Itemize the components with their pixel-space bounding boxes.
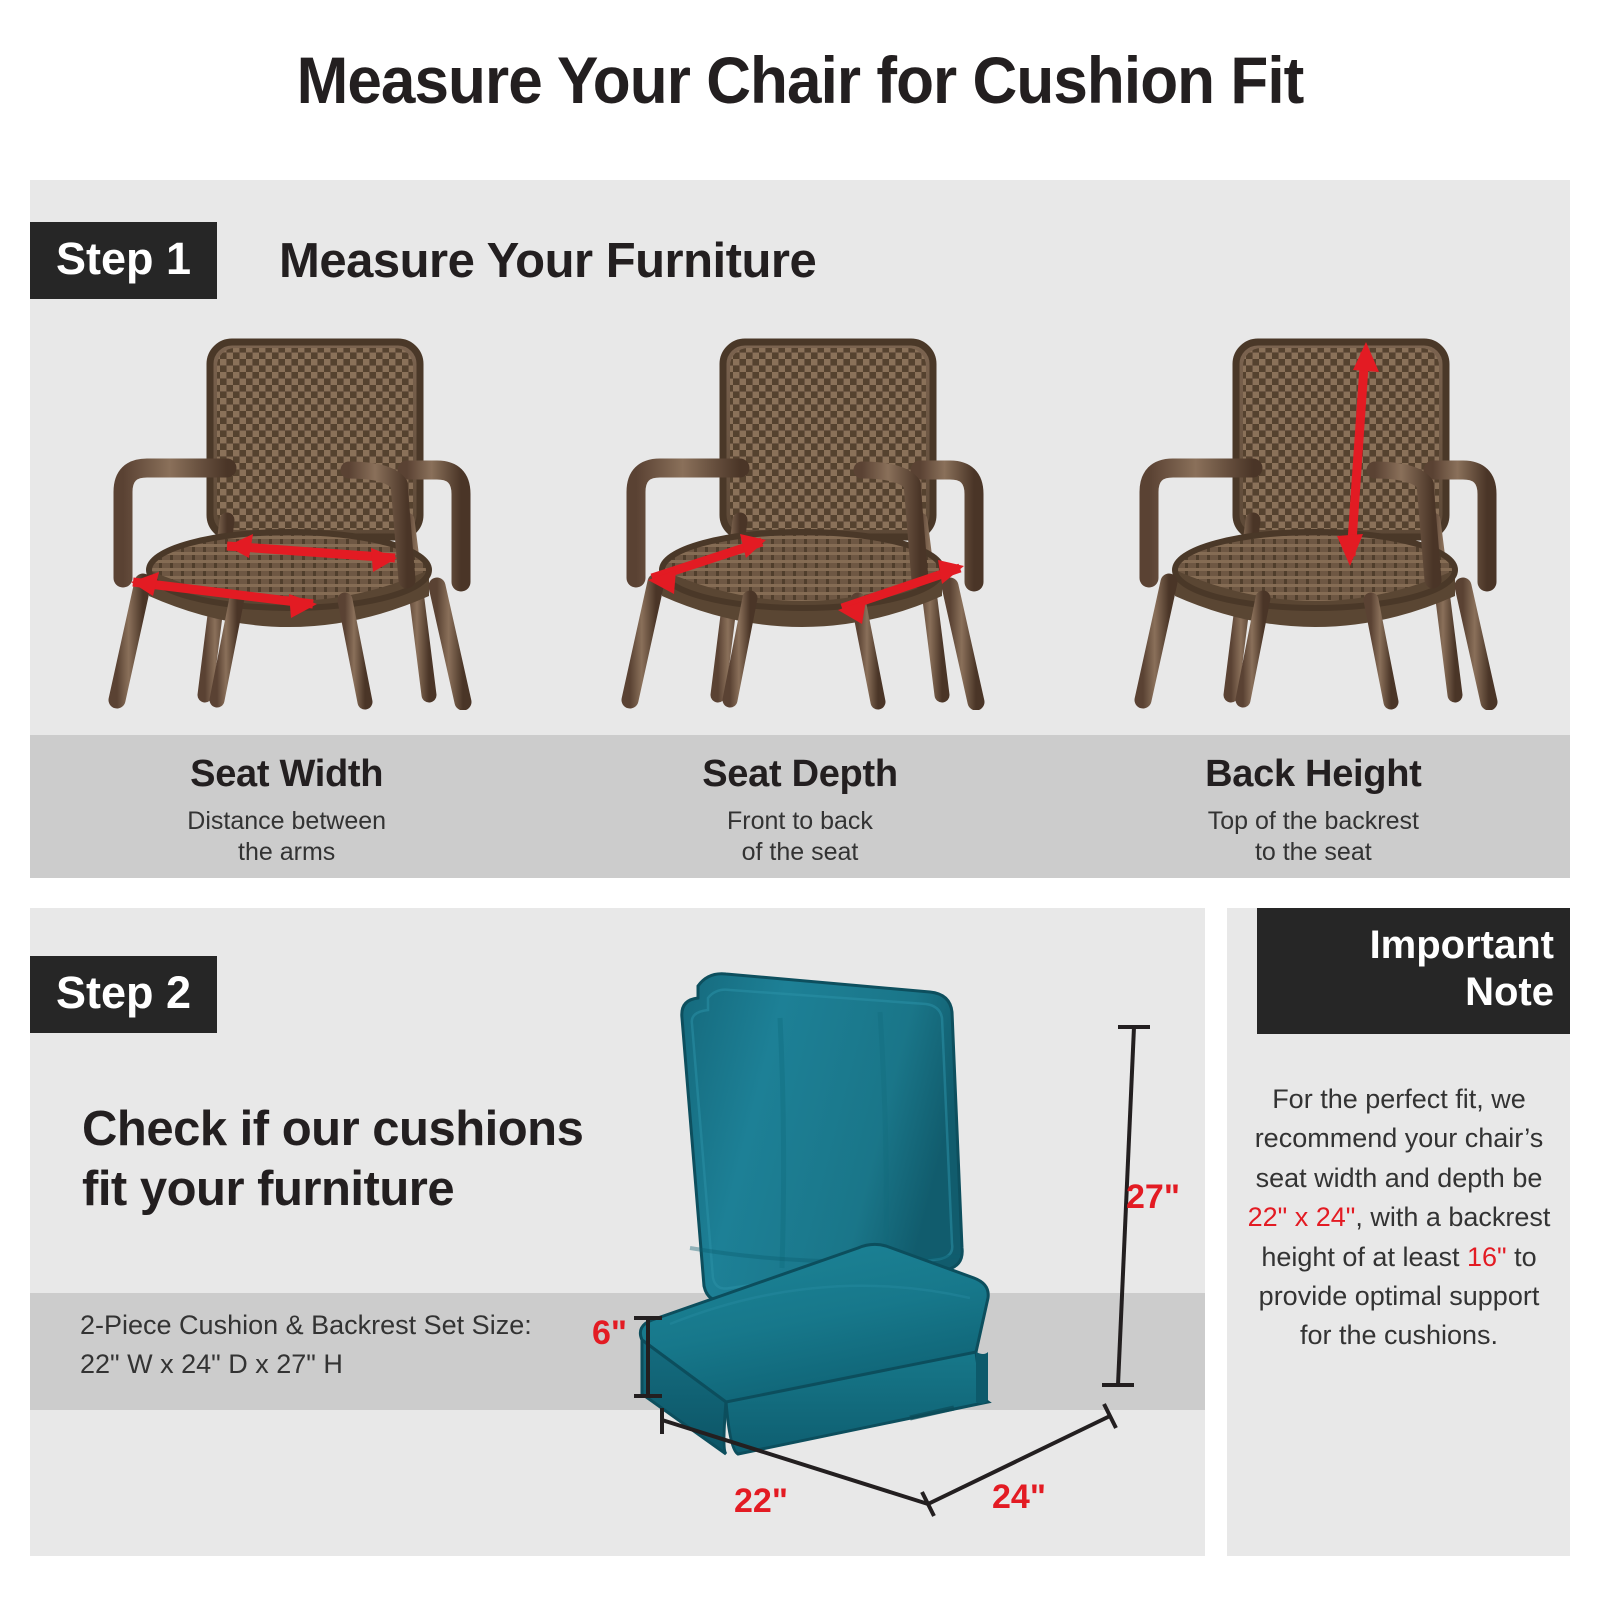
chair-back-height	[1057, 320, 1570, 735]
dimension-label-thickness: 6"	[592, 1314, 627, 1353]
important-note-badge: Important Note	[1257, 908, 1570, 1034]
note-text-part-1: For the perfect fit, we recommend your c…	[1255, 1084, 1544, 1193]
important-note-badge-line-2: Note	[1267, 969, 1554, 1016]
step-2-headline-line-2: fit your furniture	[82, 1160, 583, 1220]
dimension-label-width: 22"	[734, 1482, 788, 1521]
step-2-headline: Check if our cushions fit your furniture	[82, 1100, 583, 1220]
cushion-illustration	[630, 948, 1200, 1548]
dimension-label-depth: 24"	[992, 1478, 1046, 1517]
measurement-description-line-1: Distance between	[30, 806, 543, 837]
chair-seat-width	[30, 320, 543, 735]
important-note-badge-line-1: Important	[1267, 922, 1554, 969]
measurement-description: Front to back of the seat	[543, 806, 1056, 868]
cushion-set-size-line-1: 2-Piece Cushion & Backrest Set Size:	[80, 1306, 532, 1345]
important-note-panel: Important Note For the perfect fit, we r…	[1227, 908, 1570, 1556]
wicker-chair-illustration	[77, 320, 497, 710]
measurement-description-line-1: Top of the backrest	[1057, 806, 1570, 837]
chair-seat	[1175, 532, 1455, 627]
chair-backrest	[1236, 342, 1446, 537]
measurement-label-seat-depth: Seat Depth Front to back of the seat	[543, 735, 1056, 878]
measurement-description-line-2: to the seat	[1057, 837, 1570, 868]
measurement-title: Back Height	[1057, 753, 1570, 796]
measurement-description-line-2: of the seat	[543, 837, 1056, 868]
measurement-labels-band: Seat Width Distance between the arms Sea…	[30, 735, 1570, 878]
measurement-title: Seat Width	[30, 753, 543, 796]
step-2-badge: Step 2	[30, 956, 217, 1033]
dimension-label-height: 27"	[1126, 1178, 1180, 1217]
step-1-heading: Measure Your Furniture	[279, 233, 816, 289]
measurement-description: Distance between the arms	[30, 806, 543, 868]
chair-backrest	[210, 342, 420, 537]
measurement-label-seat-width: Seat Width Distance between the arms	[30, 735, 543, 878]
cushion-set-svg	[630, 948, 1200, 1548]
wicker-chair-illustration	[590, 320, 1010, 710]
chair-seat-depth	[543, 320, 1056, 735]
chair-backrest	[723, 342, 933, 537]
step-1-header: Step 1 Measure Your Furniture	[30, 222, 816, 299]
cushion-set-size-line-2: 22" W x 24" D x 27" H	[80, 1345, 532, 1384]
step-1-badge: Step 1	[30, 222, 217, 299]
step-1-panel: Step 1 Measure Your Furniture	[30, 180, 1570, 878]
measurement-description-line-2: the arms	[30, 837, 543, 868]
note-highlight-backrest-height: 16"	[1467, 1242, 1507, 1272]
seat-cushion	[640, 1244, 988, 1454]
measurement-label-back-height: Back Height Top of the backrest to the s…	[1057, 735, 1570, 878]
step-2-header: Step 2	[30, 956, 217, 1033]
chair-seat	[662, 532, 942, 627]
backrest-cushion	[682, 974, 962, 1301]
measurement-title: Seat Depth	[543, 753, 1056, 796]
cushion-set-size-text: 2-Piece Cushion & Backrest Set Size: 22"…	[80, 1306, 532, 1384]
step-2-headline-line-1: Check if our cushions	[82, 1100, 583, 1160]
page-title: Measure Your Chair for Cushion Fit	[48, 42, 1552, 118]
wicker-chair-illustration	[1103, 320, 1523, 710]
measurement-description-line-1: Front to back	[543, 806, 1056, 837]
important-note-text: For the perfect fit, we recommend your c…	[1241, 1080, 1557, 1356]
measurement-description: Top of the backrest to the seat	[1057, 806, 1570, 868]
note-highlight-seat-size: 22" x 24"	[1248, 1202, 1356, 1232]
chair-illustrations-row	[30, 320, 1570, 735]
step-2-panel: Step 2 Check if our cushions fit your fu…	[30, 908, 1205, 1556]
